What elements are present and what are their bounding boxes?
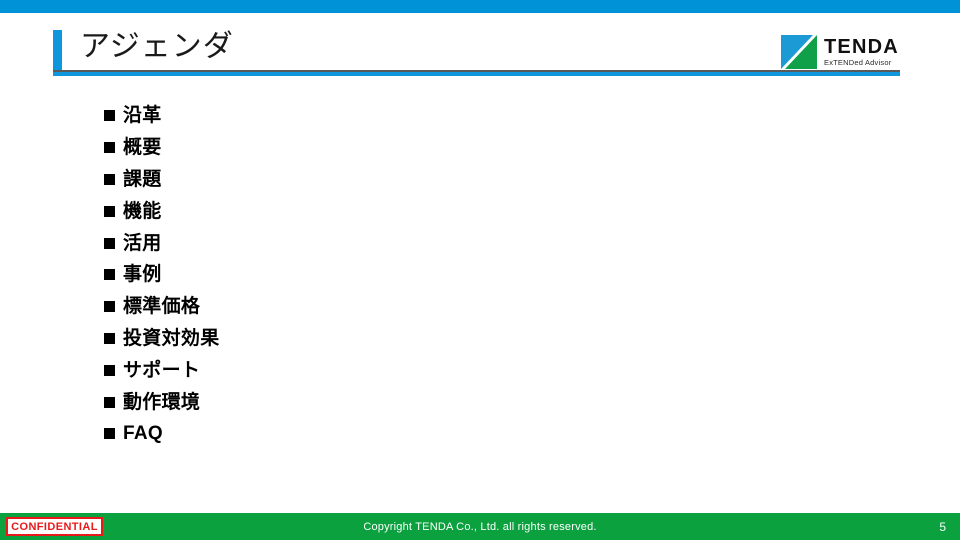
- slide-footer: Copyright TENDA Co., Ltd. all rights res…: [0, 513, 960, 540]
- list-item[interactable]: FAQ: [104, 418, 220, 450]
- list-item[interactable]: 沿革: [104, 100, 220, 132]
- tenda-logo: TENDA ExTENDed Advisor: [781, 33, 899, 71]
- agenda-item-label: 投資対効果: [123, 329, 220, 348]
- square-bullet-icon: [104, 238, 115, 249]
- agenda-item-label: 機能: [123, 202, 162, 221]
- list-item[interactable]: 投資対効果: [104, 323, 220, 355]
- top-accent-bar: [0, 0, 960, 13]
- square-bullet-icon: [104, 428, 115, 439]
- tenda-logo-text: TENDA ExTENDed Advisor: [824, 37, 899, 67]
- tenda-logo-tagline: ExTENDed Advisor: [824, 59, 899, 67]
- agenda-item-label: FAQ: [123, 424, 163, 443]
- square-bullet-icon: [104, 397, 115, 408]
- agenda-item-label: 活用: [123, 234, 162, 253]
- title-accent-bar: [53, 30, 62, 71]
- copyright-text: Copyright TENDA Co., Ltd. all rights res…: [0, 513, 960, 540]
- list-item[interactable]: 標準価格: [104, 291, 220, 323]
- square-bullet-icon: [104, 142, 115, 153]
- agenda-item-label: 事例: [123, 265, 162, 284]
- slide-content: 沿革 概要 課題 機能 活用 事例: [0, 88, 960, 498]
- agenda-list: 沿革 概要 課題 機能 活用 事例: [104, 100, 220, 450]
- list-item[interactable]: サポート: [104, 354, 220, 386]
- list-item[interactable]: 概要: [104, 132, 220, 164]
- list-item[interactable]: 動作環境: [104, 386, 220, 418]
- square-bullet-icon: [104, 333, 115, 344]
- agenda-item-label: 動作環境: [123, 393, 200, 412]
- square-bullet-icon: [104, 269, 115, 280]
- page-title: アジェンダ: [80, 27, 234, 67]
- square-bullet-icon: [104, 206, 115, 217]
- tenda-logo-name: TENDA: [824, 37, 899, 57]
- header-rule-blue: [53, 72, 900, 76]
- square-bullet-icon: [104, 301, 115, 312]
- agenda-item-label: 標準価格: [123, 297, 200, 316]
- agenda-item-label: サポート: [123, 361, 200, 380]
- agenda-item-label: 概要: [123, 138, 162, 157]
- agenda-item-label: 沿革: [123, 106, 162, 125]
- confidential-badge: CONFIDENTIAL: [6, 517, 103, 536]
- square-bullet-icon: [104, 174, 115, 185]
- list-item[interactable]: 課題: [104, 164, 220, 196]
- slide-header: アジェンダ TENDA ExTENDed Advisor: [0, 13, 960, 81]
- agenda-item-label: 課題: [123, 170, 162, 189]
- list-item[interactable]: 機能: [104, 195, 220, 227]
- list-item[interactable]: 事例: [104, 259, 220, 291]
- tenda-logo-mark-icon: [781, 35, 817, 69]
- page-number: 5: [939, 513, 946, 540]
- slide: アジェンダ TENDA ExTENDed Advisor 沿革: [0, 0, 960, 540]
- square-bullet-icon: [104, 110, 115, 121]
- square-bullet-icon: [104, 365, 115, 376]
- list-item[interactable]: 活用: [104, 227, 220, 259]
